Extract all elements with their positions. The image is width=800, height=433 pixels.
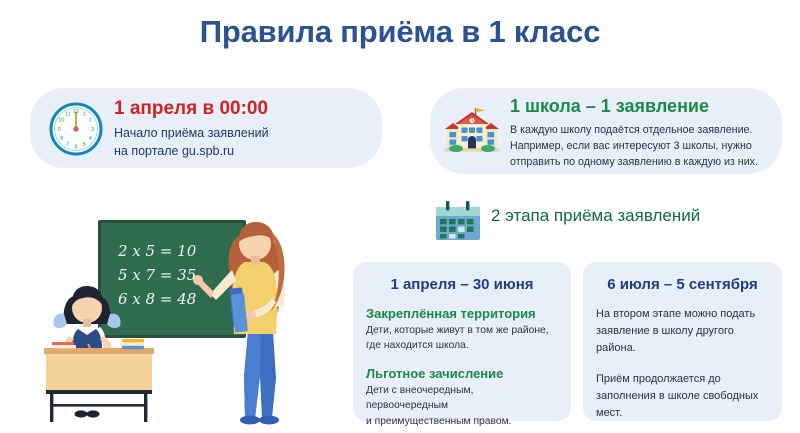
svg-text:10: 10 xyxy=(58,117,64,123)
svg-text:1: 1 xyxy=(83,112,86,118)
stage-1-subheading-2: Льготное зачисление xyxy=(366,366,558,381)
stage-1-subheading-1: Закреплённая территория xyxy=(366,306,558,321)
stages-label: 2 этапа приёма заявлений xyxy=(491,206,700,226)
stage-1-spacer xyxy=(353,354,571,366)
page-title: Правила приёма в 1 класс xyxy=(0,14,800,50)
stage-2-paragraph-2: Приём продолжается до заполнения в школе… xyxy=(583,371,782,422)
stage-2-heading: 6 июля – 5 сентября xyxy=(583,276,782,293)
stage-2-paragraph-1-line-2: заявление в школу другого xyxy=(596,323,769,340)
card-school-text: 1 школа – 1 заявление В каждую школу под… xyxy=(510,96,772,170)
blackboard-line-1: 2 x 5 = 10 xyxy=(117,242,197,260)
stage-1-block-1-line-1: Дети, которые живут в том же районе, xyxy=(366,323,558,338)
classroom-illustration: 2 x 5 = 10 5 x 7 = 35 6 x 8 = 48 xyxy=(26,198,346,428)
stage-2-paragraph-2-line-2: заполнения в школе свободных xyxy=(596,388,769,405)
stage-1-block-1-line-2: где находится школа. xyxy=(366,338,558,353)
svg-text:6: 6 xyxy=(75,144,78,150)
card-one-school-one-application: 1 школа – 1 заявление В каждую школу под… xyxy=(430,88,782,174)
stage-1-block-1: Закреплённая территория Дети, которые жи… xyxy=(353,306,571,354)
stage-2-paragraph-1-line-3: района. xyxy=(596,340,769,357)
svg-text:11: 11 xyxy=(65,112,71,118)
calendar-icon xyxy=(433,198,483,244)
card-application-start-text: 1 апреля в 00:00 Начало приёма заявлений… xyxy=(114,98,370,160)
stage-2-paragraph-2-line-1: Приём продолжается до xyxy=(596,371,769,388)
blackboard-line-3: 6 x 8 = 48 xyxy=(118,290,196,308)
school-line-3: отправить по одному заявлению в каждую и… xyxy=(510,154,772,170)
deadline-heading: 1 апреля в 00:00 xyxy=(114,98,370,121)
stages-header-row: 2 этапа приёма заявлений xyxy=(433,196,763,246)
svg-text:5: 5 xyxy=(83,142,86,148)
stage-2-paragraph-1: На втором этапе можно подать заявление в… xyxy=(583,306,782,357)
school-heading: 1 школа – 1 заявление xyxy=(510,96,772,118)
stage-2-paragraph-2-line-3: мест. xyxy=(596,405,769,422)
infographic-canvas: Правила приёма в 1 класс 12 1 2 3 4 5 6 … xyxy=(0,0,800,430)
stage-2-paragraph-1-line-1: На втором этапе можно подать xyxy=(596,306,769,323)
stage-1-block-2-line-2: и преимущественным правом. xyxy=(366,414,558,429)
clock-icon: 12 1 2 3 4 5 6 7 8 9 10 11 xyxy=(48,101,104,157)
stage-1-block-2-line-1: Дети с внеочередным, первоочередным xyxy=(366,383,558,414)
school-building-icon xyxy=(444,105,500,157)
desk-figure xyxy=(44,339,154,422)
svg-text:9: 9 xyxy=(58,127,61,133)
blackboard-line-2: 5 x 7 = 35 xyxy=(118,266,196,284)
stage-2-spacer xyxy=(583,357,782,371)
svg-text:3: 3 xyxy=(91,127,94,133)
school-line-1: В каждую школу подаётся отдельное заявле… xyxy=(510,122,772,138)
deadline-line-2: на портале gu.spb.ru xyxy=(114,143,370,161)
stage-1-heading: 1 апреля – 30 июня xyxy=(353,276,571,293)
svg-text:4: 4 xyxy=(89,136,92,142)
svg-text:2: 2 xyxy=(89,117,92,123)
school-line-2: Например, если вас интересуют 3 школы, н… xyxy=(510,138,772,154)
stage-1-block-2: Льготное зачисление Дети с внеочередным,… xyxy=(353,366,571,429)
stage-1-box: 1 апреля – 30 июня Закреплённая территор… xyxy=(353,262,571,421)
svg-text:8: 8 xyxy=(60,136,63,142)
stage-2-box: 6 июля – 5 сентября На втором этапе можн… xyxy=(583,262,782,421)
deadline-line-1: Начало приёма заявлений xyxy=(114,125,370,143)
svg-text:7: 7 xyxy=(66,142,69,148)
card-application-start: 12 1 2 3 4 5 6 7 8 9 10 11 1 ап xyxy=(30,88,382,168)
